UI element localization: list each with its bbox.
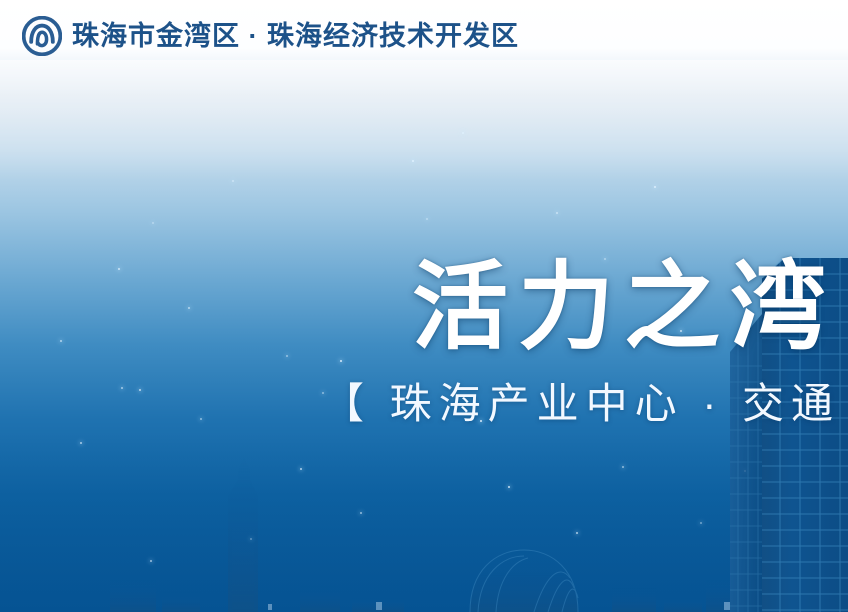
promo-banner-page: 珠海市金湾区 · 珠海经济技术开发区 活力之湾 【 珠海产业中心 · 交通 [0,0,848,612]
circular-arch-swirl-logo-icon [22,16,62,56]
site-header: 珠海市金湾区 · 珠海经济技术开发区 [0,0,848,72]
sky-gradient-background [0,0,848,612]
brand[interactable]: 珠海市金湾区 · 珠海经济技术开发区 [22,16,519,56]
site-title: 珠海市金湾区 · 珠海经济技术开发区 [72,23,519,50]
